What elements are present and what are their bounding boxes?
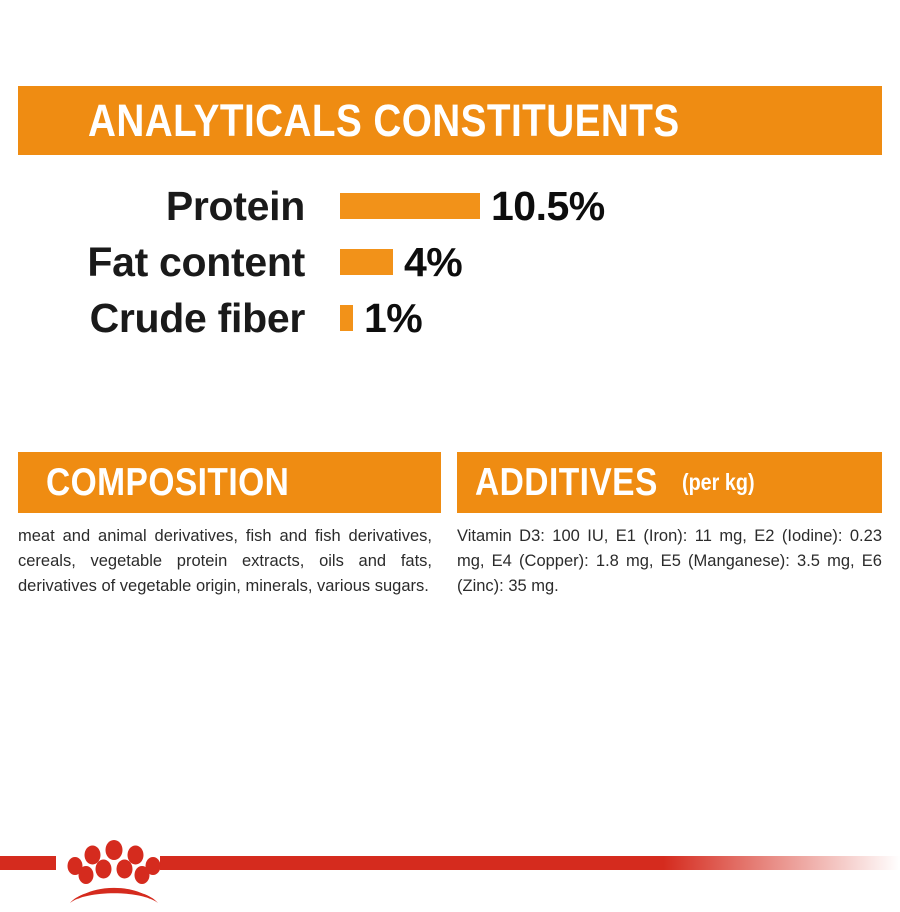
chart-bar-zone: 10.5% [340, 186, 605, 227]
composition-banner: COMPOSITION [18, 452, 441, 513]
chart-value-protein: 10.5% [491, 186, 605, 227]
additives-subtitle: (per kg) [682, 469, 755, 496]
analyticals-constituents-banner: ANALYTICALS CONSTITUENTS [18, 86, 882, 155]
chart-label-fat-content: Fat content [0, 242, 305, 283]
chart-value-fat-content: 4% [404, 242, 462, 283]
chart-row: Fat content 4% [0, 234, 900, 290]
additives-text: Vitamin D3: 100 IU, E1 (Iron): 11 mg, E2… [457, 524, 882, 599]
royal-canin-crown-icon [60, 828, 168, 912]
chart-bar-zone: 1% [340, 298, 422, 339]
footer-brand-strip [0, 838, 900, 900]
analyticals-constituents-title: ANALYTICALS CONSTITUENTS [88, 98, 680, 143]
composition-text: meat and animal derivatives, fish and fi… [18, 524, 432, 599]
chart-row: Protein 10.5% [0, 178, 900, 234]
chart-label-protein: Protein [0, 186, 305, 227]
chart-label-crude-fiber: Crude fiber [0, 298, 305, 339]
additives-title: ADDITIVES [475, 463, 658, 502]
analyticals-bar-chart: Protein 10.5% Fat content 4% Crude fiber… [0, 178, 900, 346]
footer-rule-right [160, 856, 900, 870]
chart-value-crude-fiber: 1% [364, 298, 422, 339]
footer-rule-left [0, 856, 56, 870]
chart-bar-fat-content [340, 249, 393, 275]
additives-banner: ADDITIVES (per kg) [457, 452, 882, 513]
chart-row: Crude fiber 1% [0, 290, 900, 346]
chart-bar-zone: 4% [340, 242, 462, 283]
chart-bar-crude-fiber [340, 305, 353, 331]
chart-bar-protein [340, 193, 480, 219]
composition-title: COMPOSITION [46, 463, 289, 502]
